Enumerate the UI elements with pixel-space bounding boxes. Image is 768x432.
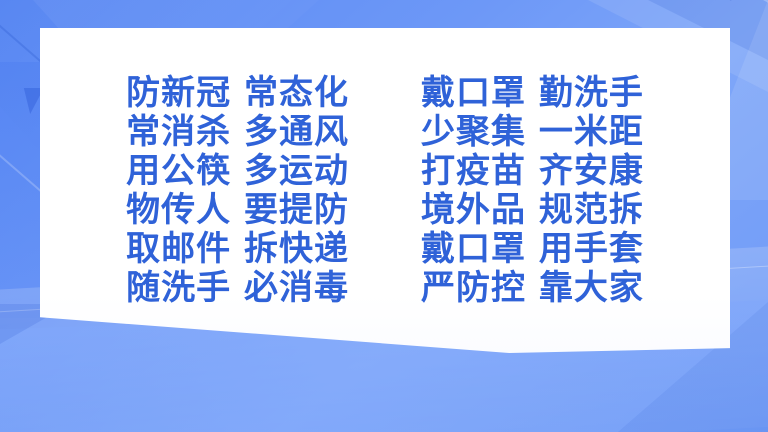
white-content-panel xyxy=(40,28,730,353)
poster-canvas: 防新冠 常态化 常消杀 多通风 用公筷 多运动 物传人 要提防 取邮件 拆快递 … xyxy=(0,0,768,432)
